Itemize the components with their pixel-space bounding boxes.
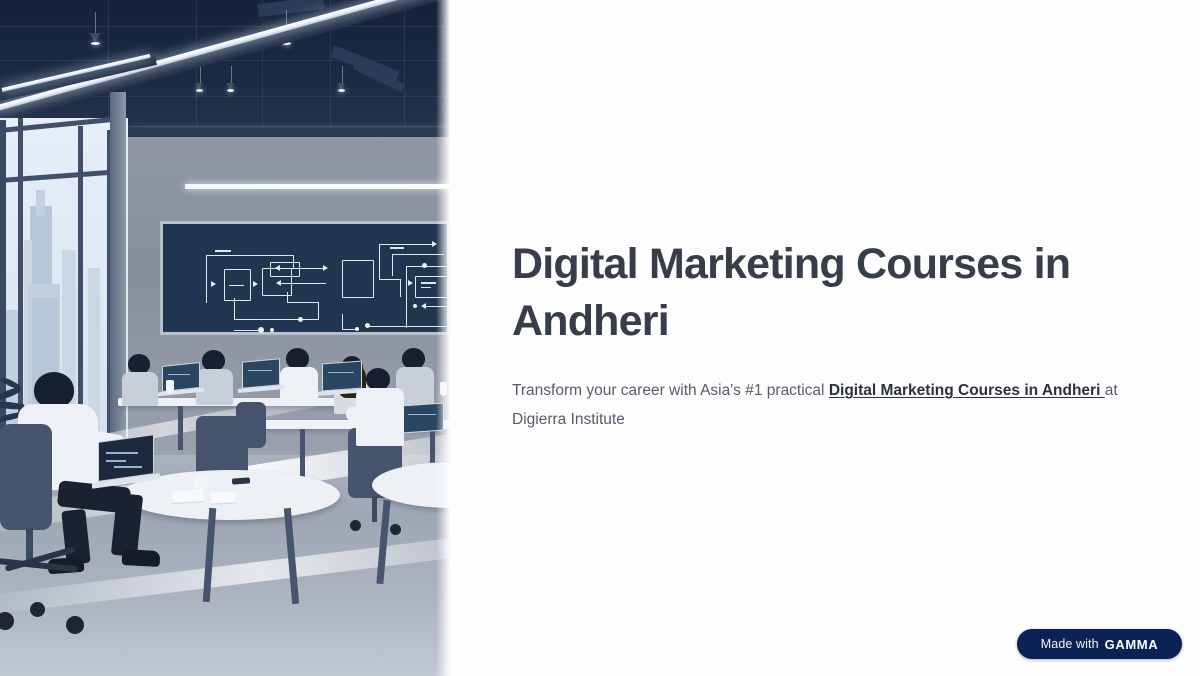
chair-caster — [66, 616, 84, 634]
wall-trim — [118, 128, 450, 137]
chair-caster — [350, 520, 361, 531]
chair-caster — [30, 602, 45, 617]
content-panel: Digital Marketing Courses in Andheri Tra… — [450, 0, 1200, 676]
pendant-rod — [342, 66, 343, 84]
laptop — [242, 358, 280, 388]
office-chair-foreground — [0, 424, 52, 530]
made-with-gamma-badge[interactable]: Made with GAMMA — [1017, 629, 1182, 659]
pendant-rod — [200, 66, 201, 84]
office-chair — [236, 402, 266, 448]
page-subtitle: Transform your career with Asia's #1 pra… — [512, 350, 1136, 434]
phone — [232, 477, 250, 484]
desk-leg — [300, 429, 305, 477]
page-title: Digital Marketing Courses in Andheri — [512, 236, 1136, 350]
pendant-glow — [338, 89, 345, 92]
made-with-label: Made with — [1041, 637, 1099, 651]
pendant-rod — [231, 66, 232, 84]
text-block: Digital Marketing Courses in Andheri Tra… — [512, 236, 1136, 434]
pendant-light-icon — [89, 33, 101, 42]
coffee-cup — [194, 476, 208, 488]
flow-diagram — [163, 224, 447, 332]
pendant-glow — [227, 89, 234, 92]
pendant-rod — [95, 12, 96, 34]
course-link[interactable]: Digital Marketing Courses in Andheri — [829, 382, 1105, 399]
chair-caster — [390, 524, 401, 535]
pendant-glow — [196, 89, 203, 92]
wall-strip-light — [185, 184, 450, 189]
skyline-building — [36, 190, 45, 216]
laptop — [322, 361, 362, 392]
subtitle-text-before: Transform your career with Asia's #1 pra… — [512, 382, 829, 399]
pendant-glow — [91, 42, 100, 45]
classroom-illustration — [0, 0, 450, 676]
notepad — [172, 489, 205, 503]
gamma-wordmark: GAMMA — [1105, 637, 1159, 652]
notepad — [210, 491, 237, 503]
presentation-slide: Digital Marketing Courses in Andheri Tra… — [0, 0, 1200, 676]
whiteboard — [160, 221, 450, 335]
coffee-cup — [166, 380, 174, 393]
hero-image — [0, 0, 450, 676]
image-edge-fade — [436, 0, 450, 676]
desk-leg — [178, 406, 183, 450]
chair-post — [372, 496, 377, 522]
